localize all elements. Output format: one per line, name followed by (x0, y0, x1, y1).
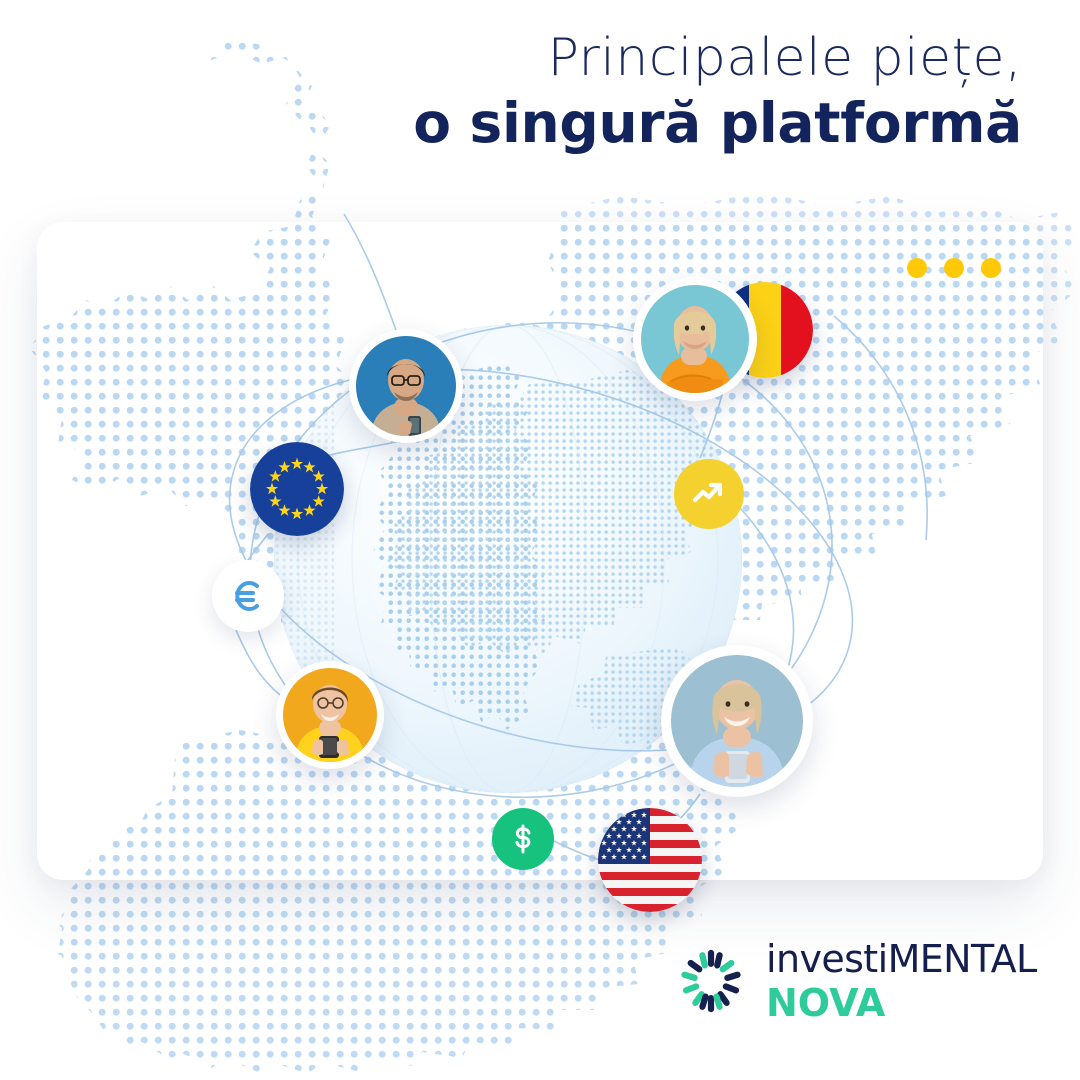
headline-line-1: Principalele piețe, (413, 32, 1022, 84)
euro-currency-icon[interactable] (212, 560, 284, 632)
window-dot-2 (944, 258, 964, 278)
brand-wordmark-primary: investiMENTAL (766, 940, 1037, 978)
avatar-photo (671, 655, 803, 787)
investimental-star-burst-mark-icon (672, 942, 750, 1020)
avatar-photo (356, 336, 456, 436)
avatar-photo (641, 285, 749, 393)
avatar[interactable] (633, 277, 757, 401)
badge-euro-node[interactable] (212, 560, 284, 632)
headline: Principalele piețe, o singură platformă (413, 32, 1022, 151)
dollar-currency-icon[interactable] (492, 808, 554, 870)
avatar-photo (283, 668, 377, 762)
headline-line-2: o singură platformă (413, 96, 1022, 151)
flag-united-states-icon[interactable] (598, 808, 702, 912)
avatar-man-yellow-node[interactable] (276, 661, 384, 769)
window-dot-1 (907, 258, 927, 278)
flag-eu-node[interactable] (250, 442, 344, 536)
avatar[interactable] (349, 329, 463, 443)
trending-up-icon[interactable] (674, 459, 744, 529)
flag-european-union-icon[interactable] (250, 442, 344, 536)
avatar[interactable] (661, 645, 813, 797)
badge-dollar-node[interactable] (492, 808, 554, 870)
brand-word-bold: MENTAL (888, 937, 1037, 981)
badge-trend-node[interactable] (674, 459, 744, 529)
content-card (37, 222, 1043, 880)
brand-logo[interactable]: investiMENTAL NOVA (672, 940, 1037, 1022)
flag-us-node[interactable] (598, 808, 702, 912)
brand-wordmark-secondary: NOVA (766, 984, 1037, 1022)
avatar-woman-orange-node[interactable] (633, 277, 757, 401)
brand-wordmark: investiMENTAL NOVA (766, 940, 1037, 1022)
avatar-man-glasses-node[interactable] (349, 329, 463, 443)
window-dot-3 (981, 258, 1001, 278)
brand-word-light: investi (766, 937, 888, 981)
avatar-woman-blue-node[interactable] (661, 645, 813, 797)
poster-canvas: Principalele piețe, o singură platformă (0, 0, 1080, 1080)
avatar[interactable] (276, 661, 384, 769)
window-dots (907, 258, 1001, 278)
globe-illustration (37, 222, 1043, 880)
